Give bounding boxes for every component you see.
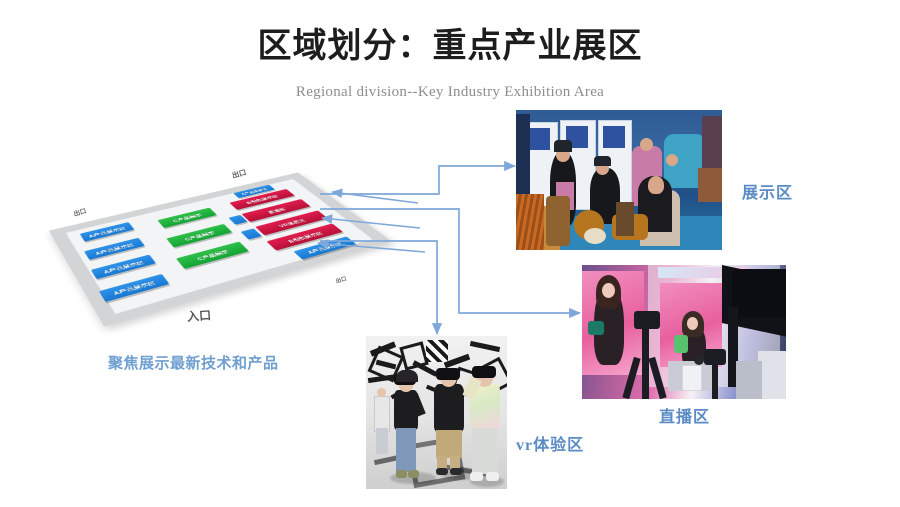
photo-exhibition-area[interactable] — [516, 110, 722, 250]
photo-label-livestream: 直播区 — [659, 403, 710, 427]
plan-block-c-3[interactable]: C产品展示 — [176, 242, 249, 269]
plan-marker-entrance: 入口 — [186, 306, 211, 325]
floor-plan-diagram: A产品展示区 A产品展示区 A产品展示区 A产品展示区 C产品展示 C产品展示 … — [62, 155, 392, 340]
floor-plan-3d: A产品展示区 A产品展示区 A产品展示区 A产品展示区 C产品展示 C产品展示 … — [66, 179, 373, 314]
page-subtitle: Regional division--Key Industry Exhibiti… — [0, 84, 900, 101]
photo-label-exhibition: 展示区 — [742, 179, 793, 203]
page-title: 区域划分：重点产业展区 — [0, 27, 900, 66]
photo-livestream-art — [582, 265, 786, 399]
photo-exhibition-art — [516, 110, 722, 250]
floor-plan-stage: A产品展示区 A产品展示区 A产品展示区 A产品展示区 C产品展示 C产品展示 … — [62, 155, 392, 340]
photo-label-vr: vr体验区 — [516, 431, 584, 455]
photo-vr-art — [366, 336, 507, 489]
floor-plan-caption: 聚焦展示最新技术和产品 — [108, 352, 279, 373]
photo-vr-area[interactable] — [366, 336, 507, 489]
photo-livestream-area[interactable] — [582, 265, 786, 399]
slide-root: 区域划分：重点产业展区 Regional division--Key Indus… — [0, 0, 900, 507]
